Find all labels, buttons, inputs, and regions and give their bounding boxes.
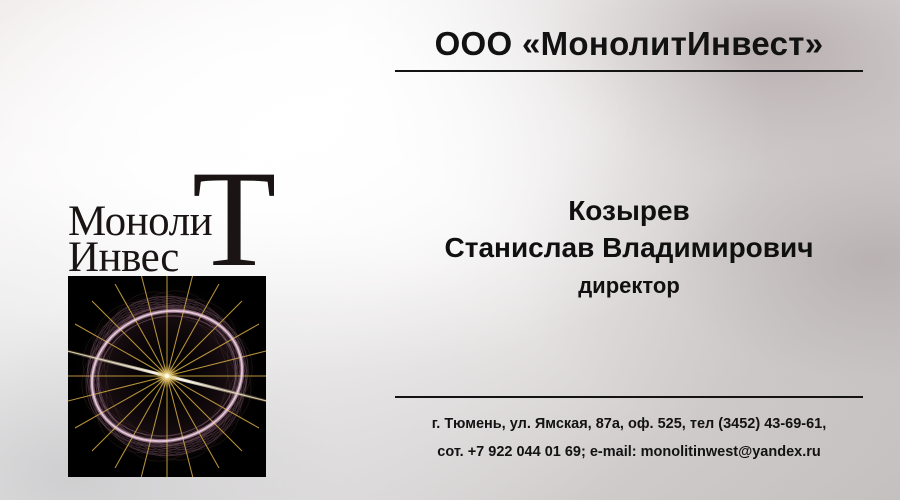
company-header: ООО «МонолитИнвест»: [390, 24, 868, 72]
contact-divider: [395, 396, 863, 398]
logo-wordmark: Моноли Инвес Т: [68, 160, 268, 276]
business-card: Моноли Инвес Т: [0, 0, 900, 500]
contact-address-line: г. Тюмень, ул. Ямская, 87а, оф. 525, тел…: [390, 410, 868, 438]
header-divider: [395, 70, 863, 72]
person-full-name: Станислав Владимирович: [390, 229, 868, 267]
fractal-ring-svg: [68, 276, 266, 477]
person-surname: Козырев: [390, 193, 868, 229]
person-job-title: директор: [390, 269, 868, 303]
person-details: Козырев Станислав Владимирович директор: [390, 193, 868, 303]
contact-phone-email-line: сот. +7 922 044 01 69; e-mail: monolitin…: [390, 438, 868, 466]
contact-details: г. Тюмень, ул. Ямская, 87а, оф. 525, тел…: [390, 396, 868, 466]
company-name: ООО «МонолитИнвест»: [390, 24, 868, 64]
company-logo: Моноли Инвес Т: [68, 160, 268, 480]
logo-wordmark-line2: Инвес: [68, 236, 179, 279]
fractal-ring-artwork: [68, 276, 266, 477]
logo-wordmark-big-letter: Т: [192, 150, 276, 288]
